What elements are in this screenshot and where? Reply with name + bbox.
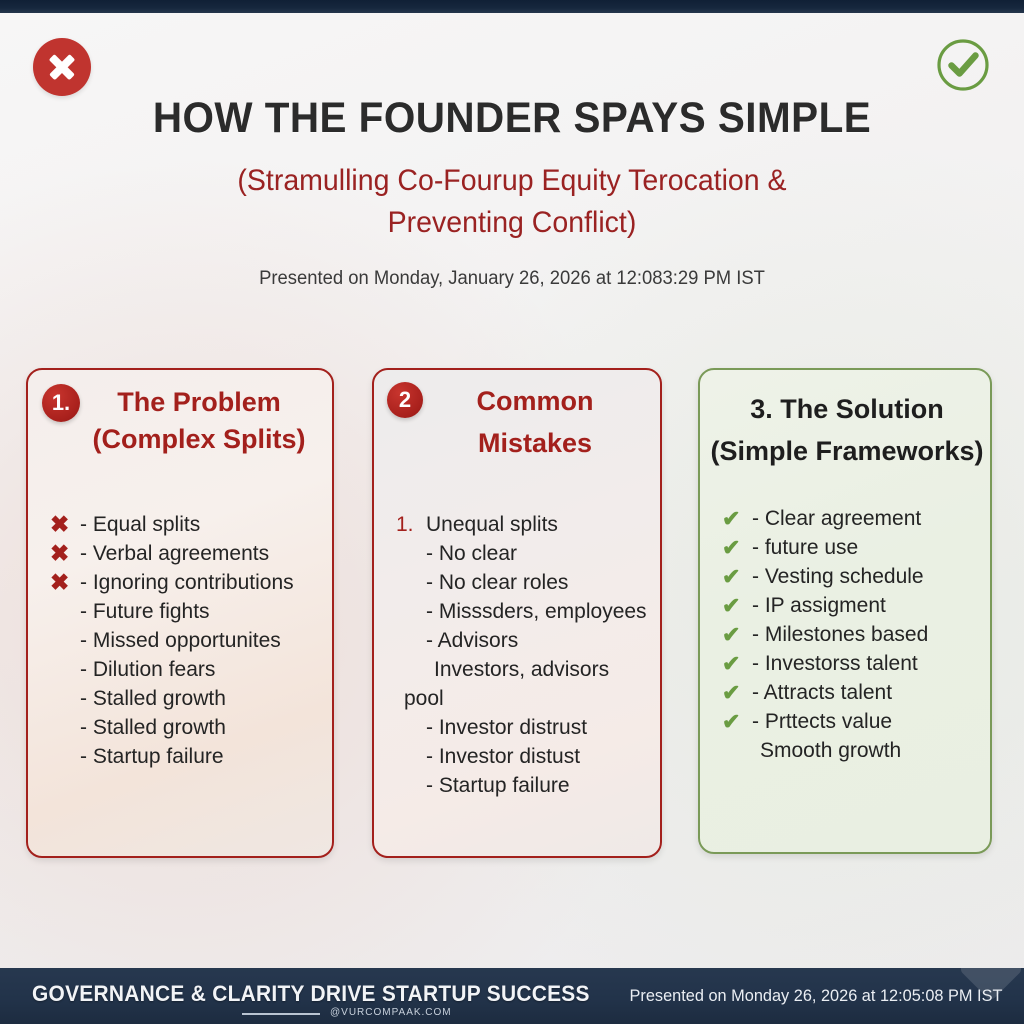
list-item: ✔- future use xyxy=(722,533,980,562)
list-item-label: - No clear roles xyxy=(426,568,650,597)
card-title-2: Common Mistakes xyxy=(422,380,648,464)
list-item-label: - Startup failure xyxy=(426,771,650,800)
card-list-3: ✔- Clear agreement✔- future use✔- Vestin… xyxy=(722,504,980,765)
card-list-1: ✖- Equal splits✖- Verbal agreements✖- Ig… xyxy=(50,510,322,771)
check-mark-icon: ✔ xyxy=(722,649,752,678)
list-item: - No clear xyxy=(396,539,650,568)
card-badge-2: 2 xyxy=(387,382,423,418)
list-item: - Misssders, employees xyxy=(396,597,650,626)
card-title-3-line-1: 3. The Solution xyxy=(706,388,988,430)
list-item: ✔- Milestones based xyxy=(722,620,980,649)
list-item: pool xyxy=(374,684,650,713)
list-item-label: - Stalled growth xyxy=(80,713,322,742)
footer-site-handle: @VURCOMPAAK.COM xyxy=(330,1007,452,1018)
list-item: ✖- Equal splits xyxy=(50,510,322,539)
list-item-label: - Vesting schedule xyxy=(752,562,980,591)
list-item: ✔- Attracts talent xyxy=(722,678,980,707)
list-item-label: - Milestones based xyxy=(752,620,980,649)
list-item-label: - Clear agreement xyxy=(752,504,980,533)
footer-tagline: GOVERNANCE & CLARITY DRIVE STARTUP SUCCE… xyxy=(32,981,590,1007)
card-title-3-line-2: (Simple Frameworks) xyxy=(706,430,988,472)
footer-bar: GOVERNANCE & CLARITY DRIVE STARTUP SUCCE… xyxy=(0,968,1024,1024)
list-item: ✔- Vesting schedule xyxy=(722,562,980,591)
list-item: - Stalled growth xyxy=(50,684,322,713)
infographic-page: HOW THE FOUNDER SPAYS SIMPLE (Stramullin… xyxy=(0,0,1024,1024)
list-item: - Advisors xyxy=(396,626,650,655)
check-mark-icon: ✔ xyxy=(722,678,752,707)
list-item: ✔- IP assigment xyxy=(722,591,980,620)
list-item: - Stalled growth xyxy=(50,713,322,742)
check-mark-icon: ✔ xyxy=(722,562,752,591)
list-item-label: - Verbal agreements xyxy=(80,539,322,568)
card-title-2-line-2: Mistakes xyxy=(422,422,648,464)
footer-divider xyxy=(242,1013,320,1015)
list-item-label: - Attracts talent xyxy=(752,678,980,707)
check-mark-icon: ✔ xyxy=(722,707,752,736)
list-item-label: - future use xyxy=(752,533,980,562)
x-mark-icon: ✖ xyxy=(50,539,80,568)
x-mark-icon: ✖ xyxy=(50,510,80,539)
card-title-2-line-1: Common xyxy=(422,380,648,422)
list-item: ✔- Investorss talent xyxy=(722,649,980,678)
page-title: HOW THE FOUNDER SPAYS SIMPLE xyxy=(31,94,994,143)
list-item-label: - Investor distrust xyxy=(426,713,650,742)
list-item-label: - Advisors xyxy=(426,626,650,655)
list-item-label: - Missed opportunites xyxy=(80,626,322,655)
list-item: - Startup failure xyxy=(50,742,322,771)
list-item: ✖- Verbal agreements xyxy=(50,539,322,568)
list-item-label: pool xyxy=(404,684,650,713)
list-item-label: - No clear xyxy=(426,539,650,568)
check-mark-icon: ✔ xyxy=(722,591,752,620)
list-item: - Future fights xyxy=(50,597,322,626)
list-item: - Missed opportunites xyxy=(50,626,322,655)
subtitle-line-1: (Stramulling Co-Fourup Equity Terocation… xyxy=(168,160,856,202)
list-item: - Investor distrust xyxy=(396,713,650,742)
x-mark-icon: ✖ xyxy=(50,568,80,597)
list-item-label: - Investorss talent xyxy=(752,649,980,678)
x-circle-icon xyxy=(33,38,91,96)
footer-timestamp: Presented on Monday 26, 2026 at 12:05:08… xyxy=(629,986,1002,1006)
list-item: - Investor distust xyxy=(396,742,650,771)
card-the-solution: 3. The Solution (Simple Frameworks) ✔- C… xyxy=(698,368,992,854)
list-item-label: - Dilution fears xyxy=(80,655,322,684)
list-item: - No clear roles xyxy=(396,568,650,597)
list-item-label: - Future fights xyxy=(80,597,322,626)
check-circle-icon xyxy=(934,36,992,94)
list-item-number: 1. xyxy=(396,510,426,539)
list-item-label: Smooth growth xyxy=(760,736,980,765)
list-item: Smooth growth xyxy=(722,736,980,765)
page-subtitle: (Stramulling Co-Fourup Equity Terocation… xyxy=(168,160,856,244)
list-item-label: - Ignoring contributions xyxy=(80,568,322,597)
check-mark-icon: ✔ xyxy=(722,504,752,533)
list-item: ✖- Ignoring contributions xyxy=(50,568,322,597)
list-item-label: Unequal splits xyxy=(426,510,650,539)
card-title-1: The Problem (Complex Splits) xyxy=(74,384,324,458)
card-common-mistakes: 2 Common Mistakes 1.Unequal splits- No c… xyxy=(372,368,662,858)
list-item-label: - Prttects value xyxy=(752,707,980,736)
card-the-problem: 1. The Problem (Complex Splits) ✖- Equal… xyxy=(26,368,334,858)
subtitle-line-2: Preventing Conflict) xyxy=(168,202,856,244)
presented-timestamp: Presented on Monday, January 26, 2026 at… xyxy=(161,268,863,290)
card-title-3: 3. The Solution (Simple Frameworks) xyxy=(706,388,988,472)
list-item-label: - IP assigment xyxy=(752,591,980,620)
list-item-label: - Investor distust xyxy=(426,742,650,771)
list-item: ✔- Prttects value xyxy=(722,707,980,736)
list-item: - Startup failure xyxy=(396,771,650,800)
top-accent-bar xyxy=(0,0,1024,13)
list-item-label: - Equal splits xyxy=(80,510,322,539)
list-item: - Dilution fears xyxy=(50,655,322,684)
card-title-1-line-1: The Problem xyxy=(74,384,324,421)
list-item-label: - Misssders, employees xyxy=(426,597,650,626)
check-mark-icon: ✔ xyxy=(722,533,752,562)
list-item: Investors, advisors xyxy=(396,655,650,684)
card-list-2: 1.Unequal splits- No clear- No clear rol… xyxy=(396,510,650,800)
list-item-label: Investors, advisors xyxy=(434,655,650,684)
list-item-label: - Startup failure xyxy=(80,742,322,771)
list-item: ✔- Clear agreement xyxy=(722,504,980,533)
card-title-1-line-2: (Complex Splits) xyxy=(74,421,324,458)
list-item-label: - Stalled growth xyxy=(80,684,322,713)
check-mark-icon: ✔ xyxy=(722,620,752,649)
list-item: 1.Unequal splits xyxy=(396,510,650,539)
